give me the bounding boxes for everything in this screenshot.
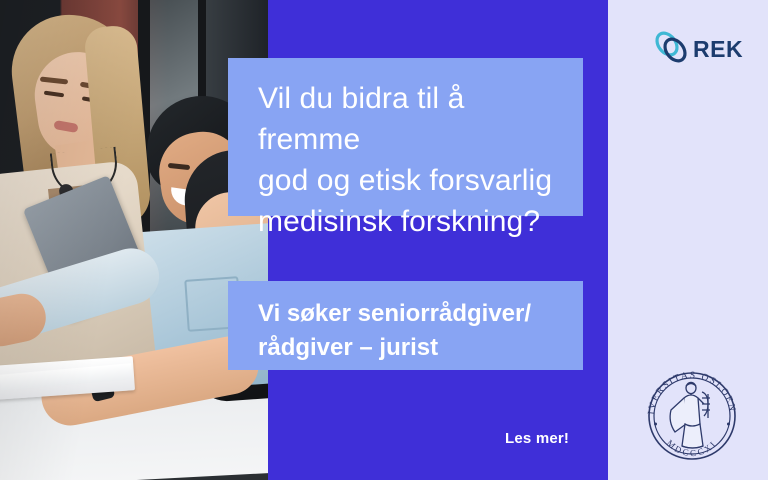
headline-line-3: medisinsk forskning?	[258, 201, 557, 242]
recruitment-banner: Vil du bidra til å fremme god og etisk f…	[0, 0, 768, 480]
rek-logo[interactable]: REK	[652, 28, 748, 70]
interlocking-rings-icon	[652, 27, 692, 72]
read-more-link[interactable]: Les mer!	[505, 430, 569, 447]
job-title-panel: Vi søker seniorrådgiver/ rådgiver – juri…	[228, 281, 583, 370]
uio-seal: UNIVERSITAS OSLOENSIS MDCCCXI	[638, 362, 746, 470]
rek-wordmark: REK	[693, 36, 743, 63]
job-title-line-1: Vi søker seniorrådgiver/	[258, 297, 557, 331]
headline-line-1: Vil du bidra til å fremme	[258, 78, 557, 160]
headline-line-2: god og etisk forsvarlig	[258, 160, 557, 201]
job-title-line-2: rådgiver – jurist	[258, 331, 557, 365]
headline-panel: Vil du bidra til å fremme god og etisk f…	[228, 58, 583, 216]
